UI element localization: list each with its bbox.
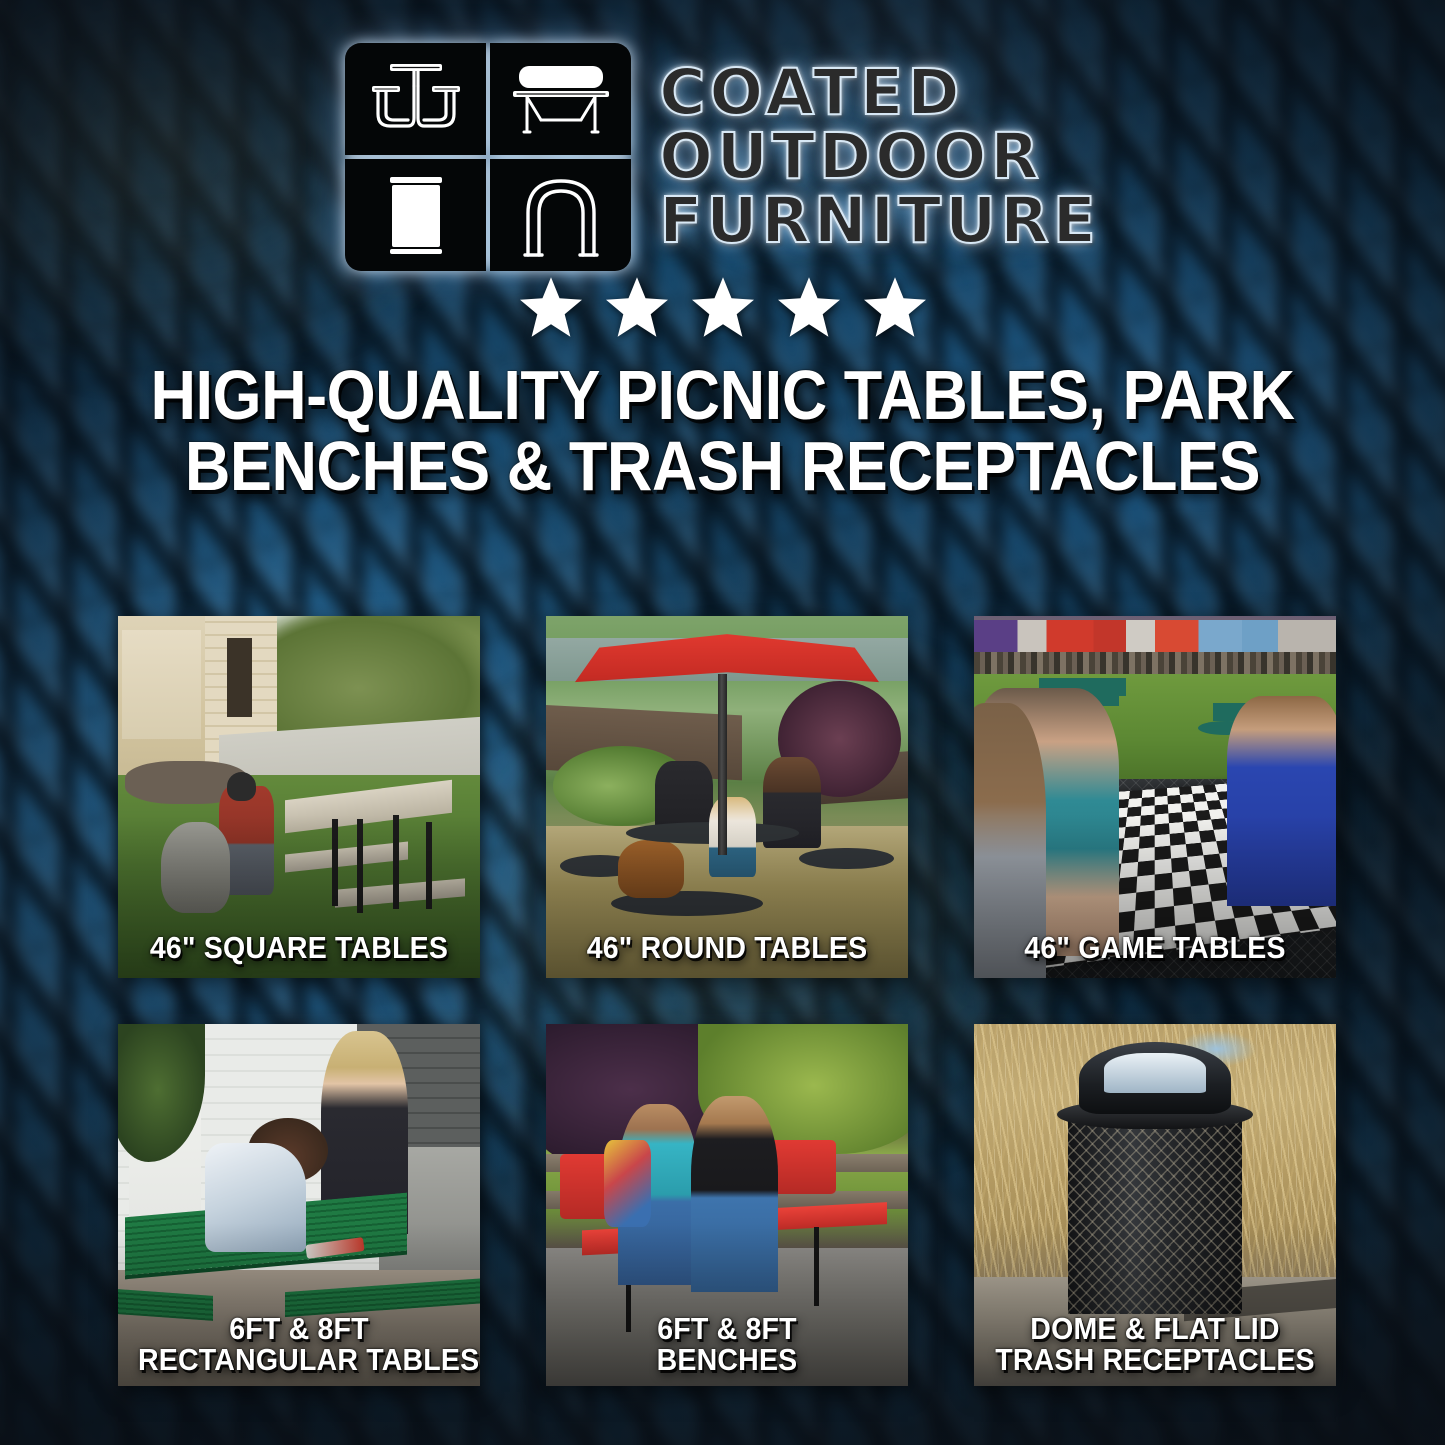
caption-line: 6FT & 8FT	[138, 1313, 460, 1345]
bike-rack-icon	[490, 159, 631, 271]
logo-icon-grid	[345, 43, 631, 271]
product-caption: DOME & FLAT LID TRASH RECEPTACLES	[988, 1313, 1321, 1376]
caption-line: DOME & FLAT LID	[994, 1313, 1316, 1345]
product-caption: 46" GAME TABLES	[988, 932, 1321, 964]
rating-stars	[0, 268, 1445, 346]
trash-receptacle-icon	[345, 159, 486, 271]
caption-line: BENCHES	[566, 1344, 888, 1376]
picnic-table-icon	[345, 43, 486, 155]
star-icon	[778, 277, 840, 337]
caption-line: TRASH RECEPTACLES	[994, 1344, 1316, 1376]
star-icon	[864, 277, 926, 337]
product-caption: 6FT & 8FT RECTANGULAR TABLES	[132, 1313, 465, 1376]
headline-line-2: BENCHES & TRASH RECEPTACLES	[72, 431, 1373, 502]
product-photo-square-tables	[118, 616, 480, 978]
star-icon	[692, 277, 754, 337]
product-tile-grid: 46" SQUARE TABLES	[118, 616, 1340, 1386]
brand-name-line-1: COATED	[659, 62, 1100, 124]
page-title: HIGH-QUALITY PICNIC TABLES, PARK BENCHES…	[72, 360, 1373, 503]
caption-line: 6FT & 8FT	[566, 1313, 888, 1345]
product-caption: 46" ROUND TABLES	[560, 932, 893, 964]
brand-name-line-3: FURNITURE	[659, 190, 1100, 252]
product-photo-game-tables	[974, 616, 1336, 978]
product-tile-square-tables[interactable]: 46" SQUARE TABLES	[118, 616, 480, 978]
product-tile-benches[interactable]: 6FT & 8FT BENCHES	[546, 1024, 908, 1386]
star-icon	[606, 277, 668, 337]
poster-stage: COATED OUTDOOR FURNITURE HIGH-QUALITY PI…	[0, 0, 1445, 1445]
caption-line: 46" ROUND TABLES	[566, 932, 888, 964]
product-tile-rectangular-tables[interactable]: 6FT & 8FT RECTANGULAR TABLES	[118, 1024, 480, 1386]
brand-name-line-2: OUTDOOR	[659, 126, 1100, 188]
product-tile-round-tables[interactable]: 46" ROUND TABLES	[546, 616, 908, 978]
bench-icon	[490, 43, 631, 155]
star-icon	[520, 277, 582, 337]
headline-line-1: HIGH-QUALITY PICNIC TABLES, PARK	[72, 360, 1373, 431]
product-caption: 6FT & 8FT BENCHES	[560, 1313, 893, 1376]
caption-line: 46" GAME TABLES	[994, 932, 1316, 964]
caption-line: RECTANGULAR TABLES	[138, 1344, 460, 1376]
caption-line: 46" SQUARE TABLES	[138, 932, 460, 964]
brand-name: COATED OUTDOOR FURNITURE	[659, 62, 1100, 251]
product-photo-round-tables	[546, 616, 908, 978]
product-tile-trash-receptacles[interactable]: DOME & FLAT LID TRASH RECEPTACLES	[974, 1024, 1336, 1386]
brand-logo: COATED OUTDOOR FURNITURE	[0, 0, 1445, 252]
product-tile-game-tables[interactable]: 46" GAME TABLES	[974, 616, 1336, 978]
product-caption: 46" SQUARE TABLES	[132, 932, 465, 964]
